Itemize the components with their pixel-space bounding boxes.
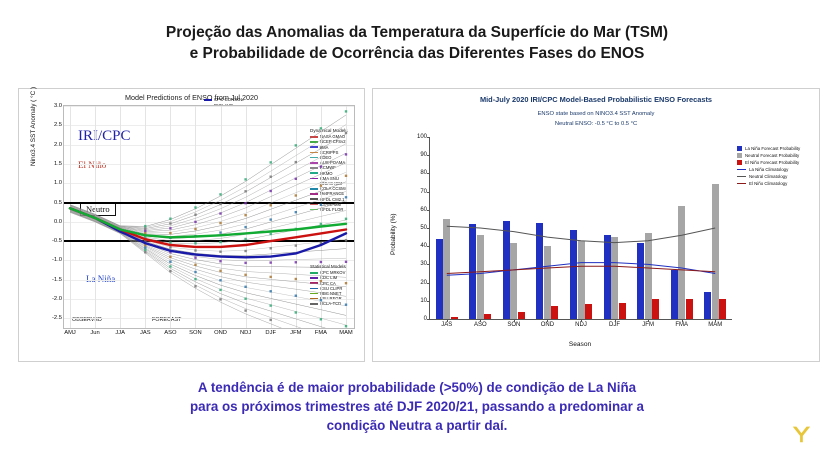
right-y-axis-label: Probability (%)	[390, 213, 397, 255]
right-x-tick: NDJ	[575, 322, 587, 328]
enso-probability-chart: Mid-July 2020 IRI/CPC Model-Based Probab…	[372, 88, 820, 362]
right-x-tickmark	[480, 319, 481, 322]
caption-line-3: condição Neutra a partir daí.	[60, 416, 774, 435]
left-x-tick: Jun	[90, 330, 99, 336]
right-legend-item: Neutral Climatology	[737, 173, 800, 180]
slide-root: Projeção das Anomalias da Temperatura da…	[0, 0, 834, 457]
brand-logo-icon	[790, 423, 812, 445]
right-y-tick: 80	[420, 170, 427, 176]
legend-label: El Niño Forecast Probability	[745, 159, 799, 166]
legend-swatch-icon	[737, 153, 742, 158]
left-x-tick: JAS	[140, 330, 151, 336]
right-chart-subtitle-1: ENSO state based on NINO3.4 SST Anomaly	[373, 111, 819, 117]
legend-label: La Niña Forecast Probability	[745, 145, 800, 152]
right-x-tickmark	[581, 319, 582, 322]
right-x-tick: JFM	[642, 322, 654, 328]
right-x-tick: OND	[541, 322, 554, 328]
right-x-axis-label: Season	[429, 341, 731, 348]
caption-line-2: para os próximos trimestres até DJF 2020…	[60, 397, 774, 416]
left-x-tick: AMJ	[64, 330, 76, 336]
right-chart-title: Mid-July 2020 IRI/CPC Model-Based Probab…	[373, 95, 819, 104]
left-x-tick: MAM	[339, 330, 353, 336]
left-y-tick: -0.5	[52, 238, 62, 244]
left-y-tick: 0.0	[54, 219, 62, 225]
legend-line-icon	[737, 169, 746, 170]
left-y-tick: 2.0	[54, 142, 62, 148]
legend-line-icon	[737, 176, 746, 177]
legend-swatch-icon	[737, 160, 742, 165]
right-x-tick: SON	[507, 322, 520, 328]
left-y-tick: -1.0	[52, 257, 62, 263]
left-y-tick: 2.5	[54, 122, 62, 128]
right-y-tick: 50	[420, 225, 427, 231]
caption-line-1: A tendência é de maior probabilidade (>5…	[60, 378, 774, 397]
left-chart-title: Model Predictions of ENSO from Jul 2020	[19, 93, 364, 102]
left-x-tick: JJA	[115, 330, 125, 336]
left-x-tick: OND	[214, 330, 227, 336]
left-plot-area: Nino3.4 SST Anomaly ( °C ) IRI/CPC El Ni…	[63, 105, 355, 329]
right-x-tick: MAM	[708, 322, 722, 328]
right-chart-subtitle-2: Neutral ENSO: -0.5 °C to 0.5 °C	[373, 121, 819, 127]
right-x-tickmark	[514, 319, 515, 322]
left-x-tick: NDJ	[240, 330, 251, 336]
right-legend-item: La Niña Climatology	[737, 166, 800, 173]
left-y-tick: 3.0	[54, 103, 62, 109]
left-y-tick: -2.0	[52, 296, 62, 302]
right-y-tick: 20	[420, 280, 427, 286]
left-y-tick: 1.0	[54, 180, 62, 186]
title-line-1: Projeção das Anomalias da Temperatura da…	[0, 22, 834, 43]
right-y-tick: 100	[417, 134, 427, 140]
left-x-tick: FMA	[315, 330, 327, 336]
page-title: Projeção das Anomalias da Temperatura da…	[0, 22, 834, 64]
climatology-lines	[430, 137, 732, 319]
right-legend-item: Neutral Forecast Probability	[737, 152, 800, 159]
title-line-2: e Probabilidade de Ocorrência das Difere…	[0, 43, 834, 64]
enso-plume-chart: Model Predictions of ENSO from Jul 2020 …	[18, 88, 365, 362]
right-y-tick: 40	[420, 243, 427, 249]
left-y-axis-label: Nino3.4 SST Anomaly ( °C )	[30, 46, 37, 166]
right-y-tick: 60	[420, 207, 427, 213]
right-y-tick: 10	[420, 298, 427, 304]
legend-line-icon	[737, 183, 746, 184]
right-y-tick: 70	[420, 189, 427, 195]
legend-label: El Niño Climatology	[749, 180, 787, 187]
legend-label: La Niña Climatology	[749, 166, 788, 173]
right-y-tick: 30	[420, 261, 427, 267]
right-x-tickmark	[682, 319, 683, 322]
right-x-tickmark	[547, 319, 548, 322]
right-x-tickmark	[447, 319, 448, 322]
caption-text: A tendência é de maior probabilidade (>5…	[60, 378, 774, 435]
left-x-tick: DJF	[265, 330, 276, 336]
right-legend-item: La Niña Forecast Probability	[737, 145, 800, 152]
legend-swatch-icon	[737, 146, 742, 151]
right-legend-item: El Niño Climatology	[737, 180, 800, 187]
legend-label: Neutral Forecast Probability	[745, 152, 799, 159]
model-ensemble-lines	[64, 106, 354, 328]
right-x-tick: FMA	[675, 322, 688, 328]
right-x-tickmark	[615, 319, 616, 322]
legend-label: Neutral Climatology	[749, 173, 787, 180]
right-legend-item: El Niño Forecast Probability	[737, 159, 800, 166]
left-y-tick: -2.5	[52, 315, 62, 321]
right-y-tickmark	[427, 319, 430, 320]
right-x-tick: DJF	[609, 322, 620, 328]
legend-swatch-icon	[204, 99, 212, 101]
left-x-tick: SON	[189, 330, 202, 336]
right-x-tickmark	[648, 319, 649, 322]
right-x-tickmark	[715, 319, 716, 322]
left-y-tick: -1.5	[52, 277, 62, 283]
right-x-tick: ASO	[474, 322, 487, 328]
left-x-tick: JFM	[290, 330, 301, 336]
right-plot-area: Probability (%) 0102030405060708090100JA…	[429, 137, 732, 320]
left-x-tick: ASO	[164, 330, 176, 336]
right-y-tick: 90	[420, 152, 427, 158]
left-y-tick: 1.5	[54, 161, 62, 167]
left-y-tick: 0.5	[54, 200, 62, 206]
right-chart-legend: La Niña Forecast ProbabilityNeutral Fore…	[737, 145, 800, 187]
right-x-tick: JAS	[441, 322, 452, 328]
